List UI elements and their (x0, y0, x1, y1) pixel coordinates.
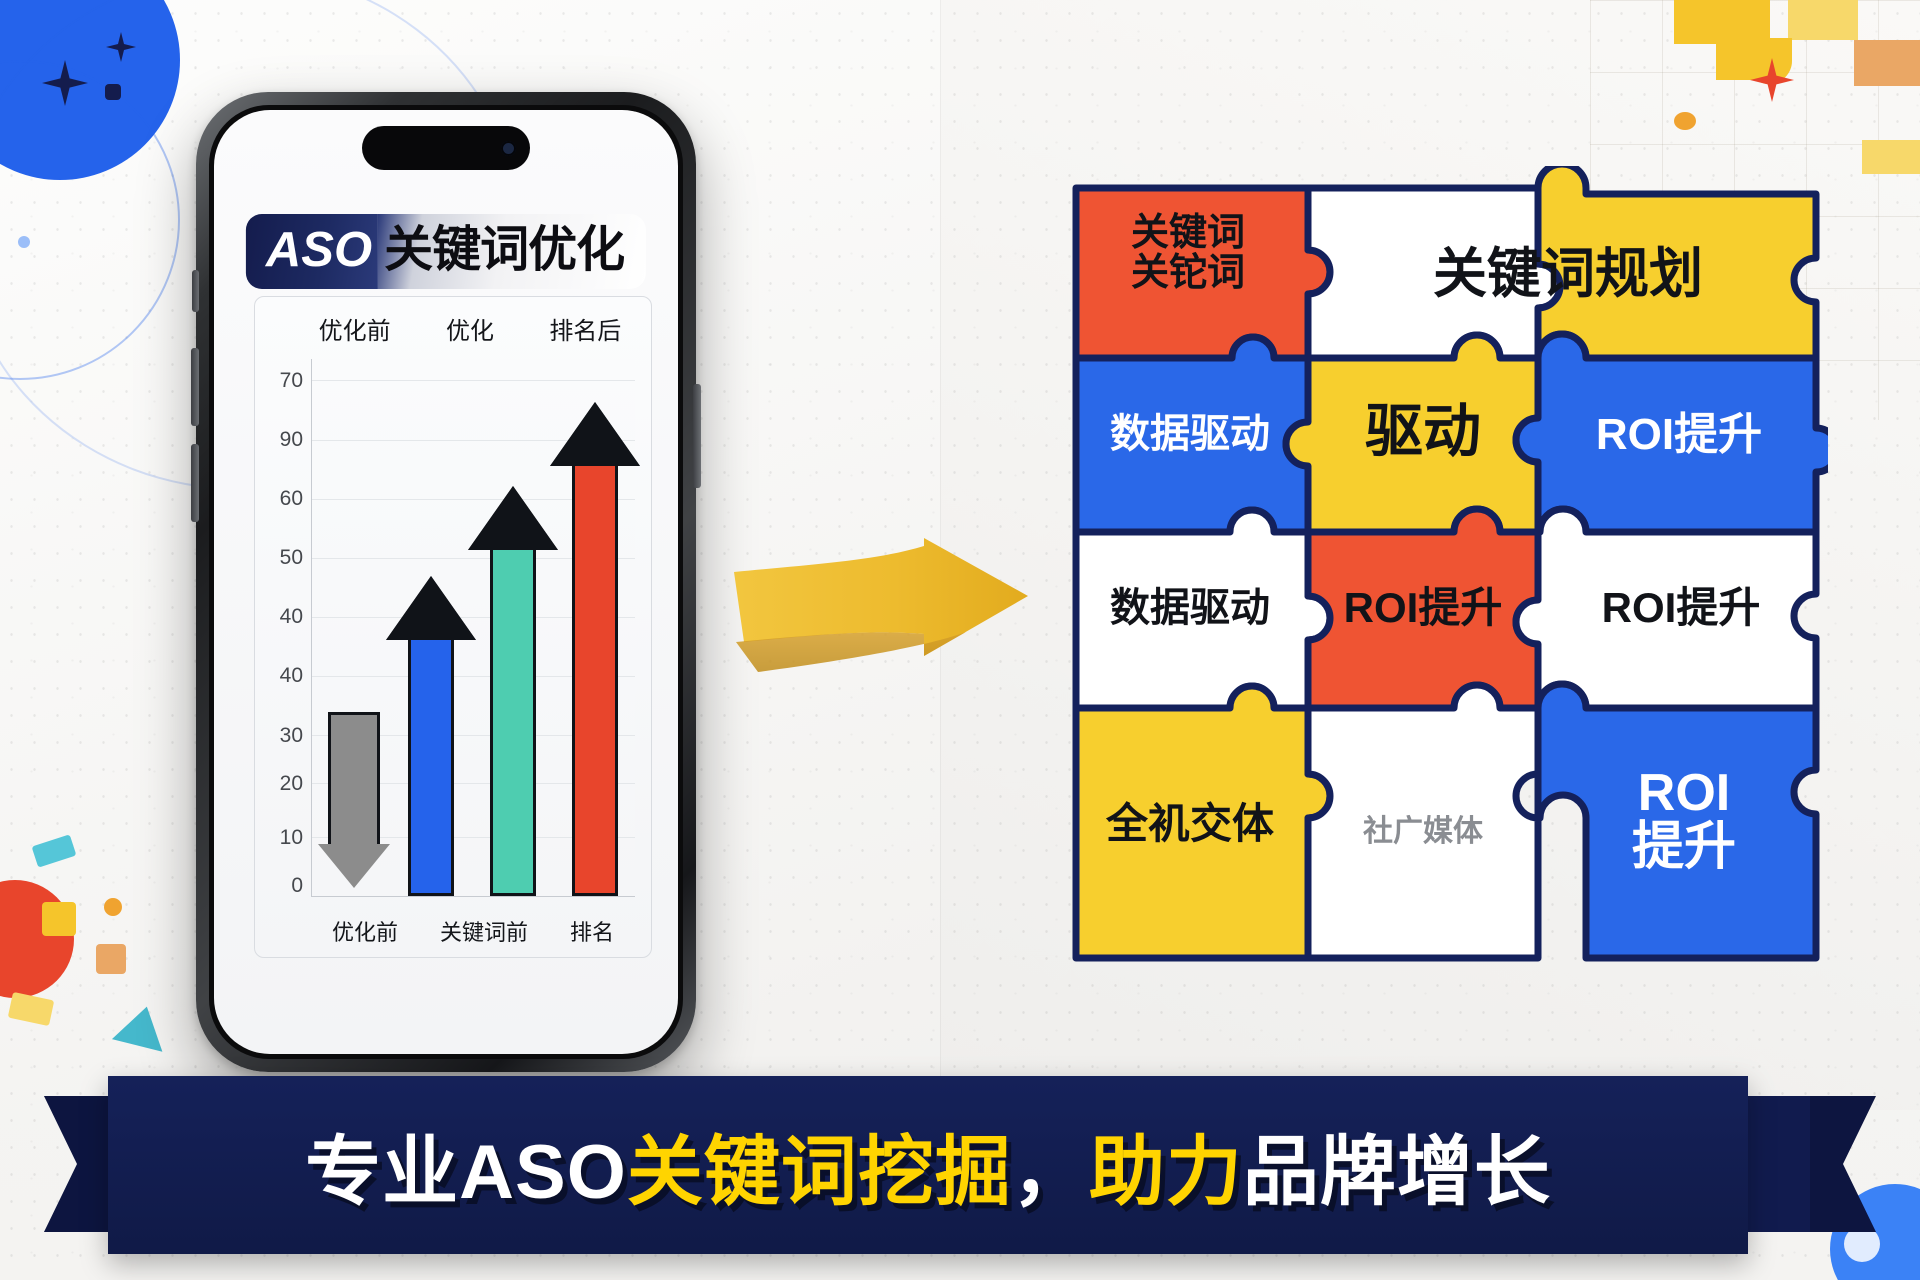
arrow-up-shaft (408, 638, 454, 896)
phone-mute-switch[interactable] (192, 270, 199, 312)
bar-ranking-after (554, 406, 636, 896)
phone-dynamic-island (362, 126, 530, 170)
banner-text: 专业ASO关键词挖掘，助力品牌增长 (305, 1110, 1551, 1220)
puzzle-piece-roi-blue-2 (1538, 684, 1816, 958)
puzzle-piece-data-white (1076, 510, 1330, 708)
arrow-up-head-icon (554, 406, 636, 464)
bar-ranking (472, 490, 554, 896)
arrow-down-shaft (328, 712, 380, 844)
arrow-up-head-icon (472, 490, 554, 548)
y-tick-8: 10 (280, 826, 303, 850)
chart-column-headers: 优化前 优化 排名后 (255, 297, 651, 354)
puzzle-piece-drive-yellow (1286, 335, 1538, 532)
x-label-2: 排名 (570, 915, 614, 947)
arrow-up-shaft (490, 548, 536, 896)
banner-segment-0: 专业ASO (305, 1130, 627, 1215)
x-label-1: 关键词前 (440, 915, 528, 947)
chart-y-axis: 70 90 60 50 40 40 30 20 10 0 (255, 359, 311, 897)
phone-bezel: ASO 关键词优化 优化前 优化 排名后 70 90 60 50 40 (209, 105, 683, 1059)
bar-optimize-before (318, 712, 390, 888)
y-tick-6: 30 (280, 724, 303, 748)
puzzle-piece-roi-white (1516, 509, 1816, 708)
phone-mockup: ASO 关键词优化 优化前 优化 排名后 70 90 60 50 40 (196, 92, 696, 1072)
banner-segment-4: 品牌增长 (1243, 1130, 1551, 1215)
chart-x-labels: 优化前 关键词前 排名 (311, 915, 635, 947)
aso-title-suffix: 关键词优化 (378, 214, 646, 289)
chart-card: 优化前 优化 排名后 70 90 60 50 40 40 30 20 10 (254, 296, 652, 958)
puzzle-piece-roi-blue (1516, 334, 1828, 532)
puzzle-piece-keyword-red (1076, 188, 1330, 358)
puzzle-piece-plan-yellow (1538, 166, 1816, 358)
y-tick-5: 40 (280, 664, 303, 688)
phone-volume-up-button[interactable] (191, 348, 199, 426)
aso-title: ASO 关键词优化 (246, 214, 646, 289)
phone-volume-down-button[interactable] (191, 444, 199, 522)
y-tick-0: 70 (280, 369, 303, 393)
arrow-up-head-icon (390, 580, 472, 638)
banner-segment-2: ， (1012, 1130, 1089, 1215)
chart-header-0: 优化前 (255, 311, 412, 346)
puzzle-piece-social-yellow (1076, 686, 1330, 958)
connector-arrow (728, 538, 1058, 698)
y-tick-3: 50 (280, 546, 303, 570)
banner-segment-1: 关键词挖掘 (627, 1130, 1012, 1215)
puzzle-piece-roi-red (1308, 509, 1538, 708)
y-tick-1: 90 (280, 428, 303, 452)
chart-plot-area (311, 359, 635, 897)
puzzle-board: 关键词 关铊词 关键词规划 数据驱动 驱动 ROI提升 数据驱动 ROI提升 R… (1068, 166, 1828, 976)
x-label-0: 优化前 (332, 915, 398, 947)
bar-keyword-before (390, 580, 472, 896)
phone-screen: ASO 关键词优化 优化前 优化 排名后 70 90 60 50 40 (214, 110, 678, 1054)
puzzle-piece-media-white (1308, 685, 1538, 958)
chart-plot: 70 90 60 50 40 40 30 20 10 0 (255, 359, 651, 897)
bottom-banner: 专业ASO关键词挖掘，助力品牌增长 (108, 1076, 1748, 1254)
front-camera-icon (501, 141, 516, 156)
arrow-up-shaft (572, 464, 618, 896)
puzzle-piece-data-blue (1076, 337, 1308, 532)
chart-header-1: 优化 (412, 311, 527, 346)
y-tick-4: 40 (280, 605, 303, 629)
arrow-down-head-icon (318, 844, 390, 888)
aso-title-prefix: ASO (246, 214, 378, 289)
puzzle-piece-plan-white (1308, 188, 1560, 358)
banner-segment-3: 助力 (1089, 1130, 1243, 1215)
y-tick-9: 0 (291, 874, 303, 898)
chart-bars (312, 359, 635, 896)
chart-header-2: 排名后 (528, 311, 643, 346)
y-tick-2: 60 (280, 487, 303, 511)
phone-power-button[interactable] (693, 384, 701, 488)
y-tick-7: 20 (280, 772, 303, 796)
